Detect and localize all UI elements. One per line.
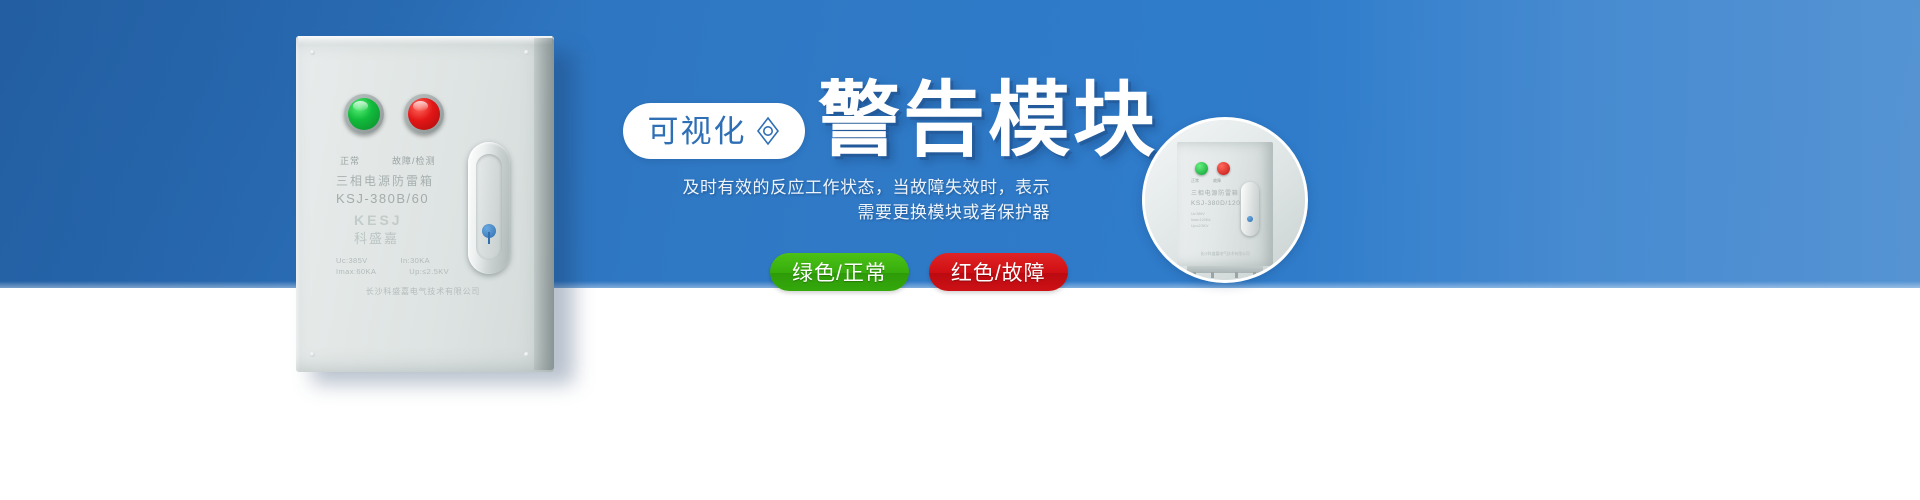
closeup-base-rail (1187, 266, 1263, 273)
closeup-spec-3: Up:≤2.5KV (1191, 224, 1208, 228)
banner-subtitle: 及时有效的反应工作状态，当故障失效时，表示 需要更换模块或者保护器 (610, 175, 1050, 225)
enclosure-bolt (524, 50, 529, 55)
closeup-lamp-label-normal: 正常 (1191, 178, 1199, 184)
product-spec-line-2: Imax:60KA Up:≤2.5KV (336, 267, 449, 276)
product-brand-cn: 科盛嘉 (354, 228, 399, 247)
closeup-enclosure: 正常 故障 三相电源防雷箱 KSJ-380D/120 Uc:385V Imax:… (1177, 142, 1273, 266)
closeup-door-handle (1241, 182, 1259, 236)
lamp-label-normal: 正常 (340, 154, 360, 167)
enclosure-bolt (310, 352, 315, 357)
handle-lock-icon (482, 224, 496, 238)
closeup-panel-title: 三相电源防雷箱 (1191, 188, 1239, 197)
eye-diamond-icon (755, 116, 781, 146)
closeup-base-leg (1193, 272, 1196, 278)
product-closeup-circle: KESJ 科盛嘉 正常 故障 三相电源防雷箱 KSJ-380D/120 Uc:3… (1142, 117, 1308, 283)
door-handle (468, 142, 510, 274)
band-light-gradient (1300, 0, 1920, 288)
closeup-red-lamp (1217, 162, 1230, 175)
status-badge-fault: 红色/故障 (929, 253, 1068, 291)
closeup-spec-1: Uc:385V (1191, 212, 1205, 216)
red-indicator-lamp (404, 94, 444, 134)
banner-stage: 正常 故障/检测 三相电源防雷箱 KSJ-380B/60 KESJ 科盛嘉 Uc… (0, 0, 1920, 500)
product-spec-line-1: Uc:385V In:30KA (336, 256, 430, 265)
spec-imax: Imax:60KA (336, 267, 376, 276)
subtitle-line-1: 及时有效的反应工作状态，当故障失效时，表示 (610, 175, 1050, 200)
lamp-gloss (353, 101, 368, 111)
product-photo: 正常 故障/检测 三相电源防雷箱 KSJ-380B/60 KESJ 科盛嘉 Uc… (296, 36, 566, 376)
enclosure-top-highlight (298, 36, 552, 45)
product-brand-en: KESJ (354, 212, 403, 228)
spec-uc: Uc:385V (336, 256, 368, 265)
visualization-pill-badge: 可视化 (623, 103, 805, 159)
closeup-base-leg (1253, 272, 1256, 278)
closeup-brand-en: KESJ (1149, 124, 1169, 130)
product-enclosure: 正常 故障/检测 三相电源防雷箱 KSJ-380B/60 KESJ 科盛嘉 Uc… (296, 36, 554, 372)
lamp-gloss (413, 101, 428, 111)
spec-up: Up:≤2.5KV (409, 267, 449, 276)
closeup-brand-cn: 科盛嘉 (1149, 132, 1167, 139)
spec-in: In:30KA (401, 256, 431, 265)
closeup-spec-2: Imax:120KA (1191, 218, 1211, 222)
product-company-name: 长沙科盛嘉电气技术有限公司 (328, 286, 518, 297)
status-badge-group: 绿色/正常 红色/故障 (770, 253, 1068, 291)
lamp-label-fault: 故障/检测 (392, 154, 436, 167)
closeup-green-lamp (1195, 162, 1208, 175)
closeup-company-name: 长沙科盛嘉电气技术有限公司 (1187, 252, 1263, 257)
enclosure-right-edge (534, 38, 554, 370)
pill-label: 可视化 (648, 116, 747, 147)
closeup-panel-model: KSJ-380D/120 (1191, 200, 1240, 207)
status-badge-normal: 绿色/正常 (770, 253, 909, 291)
subtitle-line-2: 需要更换模块或者保护器 (610, 200, 1050, 225)
closeup-lock-icon (1247, 216, 1253, 222)
closeup-base-leg (1211, 272, 1214, 278)
green-indicator-lamp (344, 94, 384, 134)
enclosure-bolt (524, 352, 529, 357)
handle-inner (476, 154, 502, 260)
page-title: 警告模块 (818, 80, 1158, 162)
closeup-lamp-label-fault: 故障 (1213, 178, 1221, 184)
closeup-base-leg (1235, 272, 1238, 278)
enclosure-bolt (310, 50, 315, 55)
